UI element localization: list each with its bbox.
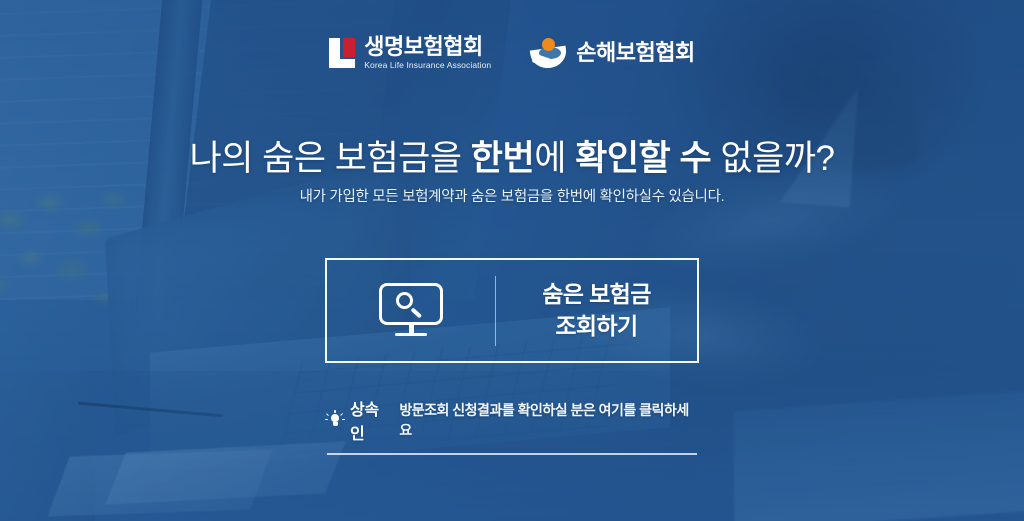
inheritance-link-rest-text: 방문조회 신청결과를 확인하실 분은 여기를 클릭하세요 xyxy=(399,400,697,440)
logo-english-name: Korea Life Insurance Association xyxy=(364,61,491,70)
inheritance-link-strong-text: 상속인 xyxy=(350,396,392,444)
cta-label-line-2: 조회하기 xyxy=(555,313,637,339)
lightbulb-icon xyxy=(327,412,343,428)
hero-page: 생명보험협회 Korea Life Insurance Association … xyxy=(0,0,1024,521)
headline-part-2: 에 xyxy=(534,139,575,178)
inheritance-inquiry-link[interactable]: 상속인 방문조회 신청결과를 확인하실 분은 여기를 클릭하세요 xyxy=(327,396,697,455)
logo-korean-name: 손해보험협회 xyxy=(576,42,694,64)
headline-bold-1: 한번 xyxy=(471,139,534,178)
logo-korea-life-insurance-association: 생명보험협회 Korea Life Insurance Association xyxy=(329,36,491,70)
monitor-search-icon xyxy=(379,283,443,339)
page-subtitle: 내가 가입한 모든 보험계약과 숨은 보험금을 한번에 확인하실수 있습니다. xyxy=(0,185,1024,206)
cta-label-line-1: 숨은 보험금 xyxy=(542,281,651,307)
association-logos: 생명보험협회 Korea Life Insurance Association … xyxy=(0,36,1024,70)
headline-part-1: 나의 숨은 보험금을 xyxy=(190,139,471,178)
headline-part-3: 없을까? xyxy=(711,139,834,178)
headline-bold-2: 확인할 수 xyxy=(575,139,711,178)
logo-text-block: 생명보험협회 Korea Life Insurance Association xyxy=(364,36,491,70)
l-shape-mark-icon xyxy=(329,38,355,68)
swoosh-mark-icon xyxy=(531,38,567,68)
cta-label: 숨은 보험금 조회하기 xyxy=(496,279,697,341)
search-hidden-insurance-button[interactable]: 숨은 보험금 조회하기 xyxy=(325,258,699,363)
cta-icon-area xyxy=(327,283,495,339)
page-title: 나의 숨은 보험금을 한번에 확인할 수 없을까? xyxy=(0,130,1024,181)
logo-general-insurance-association: 손해보험협회 xyxy=(531,38,694,68)
hero-content: 생명보험협회 Korea Life Insurance Association … xyxy=(0,0,1024,521)
logo-korean-name: 생명보험협회 xyxy=(364,36,491,58)
